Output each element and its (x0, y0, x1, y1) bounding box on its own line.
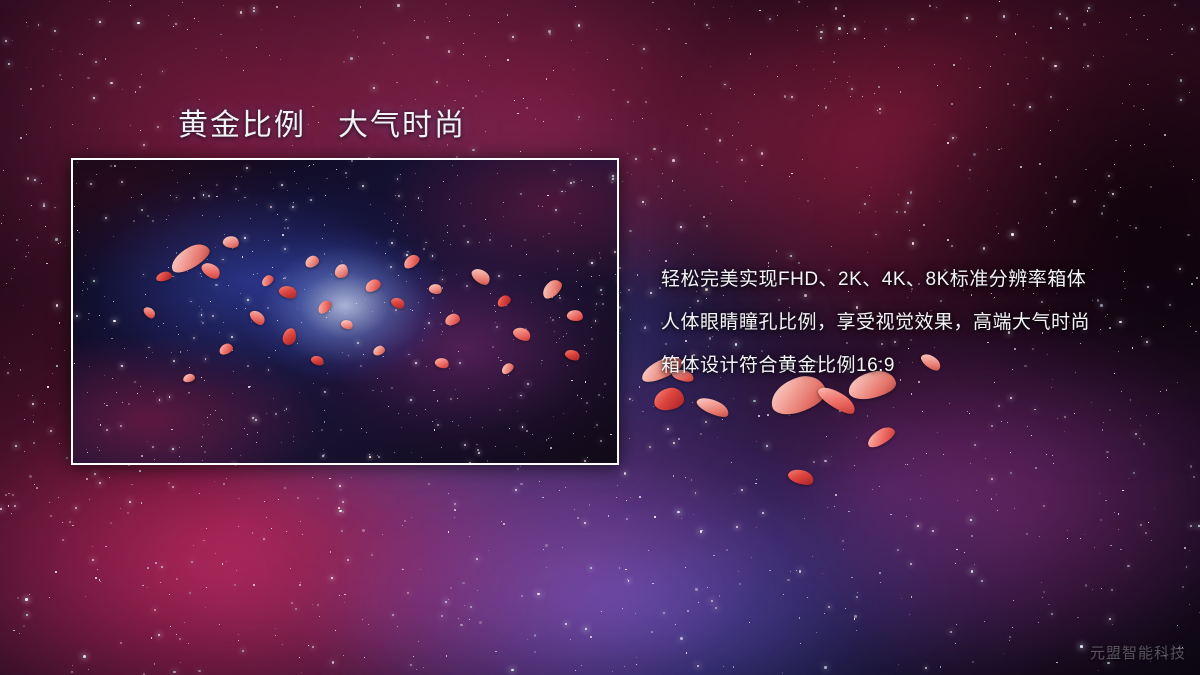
framed-photo (71, 158, 619, 465)
description-text-block: 轻松完美实现FHD、2K、4K、8K标准分辨率箱体 人体眼睛瞳孔比例，享受视觉效… (661, 258, 1090, 387)
presentation-slide: 黄金比例 大气时尚 轻松完美实现FHD、2K、4K、8K标准分辨率箱体 人体眼睛… (0, 0, 1200, 675)
slide-title: 黄金比例 大气时尚 (178, 100, 466, 144)
description-line-2: 人体眼睛瞳孔比例，享受视觉效果，高端大气时尚 (661, 301, 1090, 344)
watermark-logo-text: 元盟智能科技 (1090, 642, 1186, 663)
description-line-3: 箱体设计符合黄金比例16:9 (661, 344, 1090, 387)
description-line-1: 轻松完美实现FHD、2K、4K、8K标准分辨率箱体 (661, 258, 1090, 301)
